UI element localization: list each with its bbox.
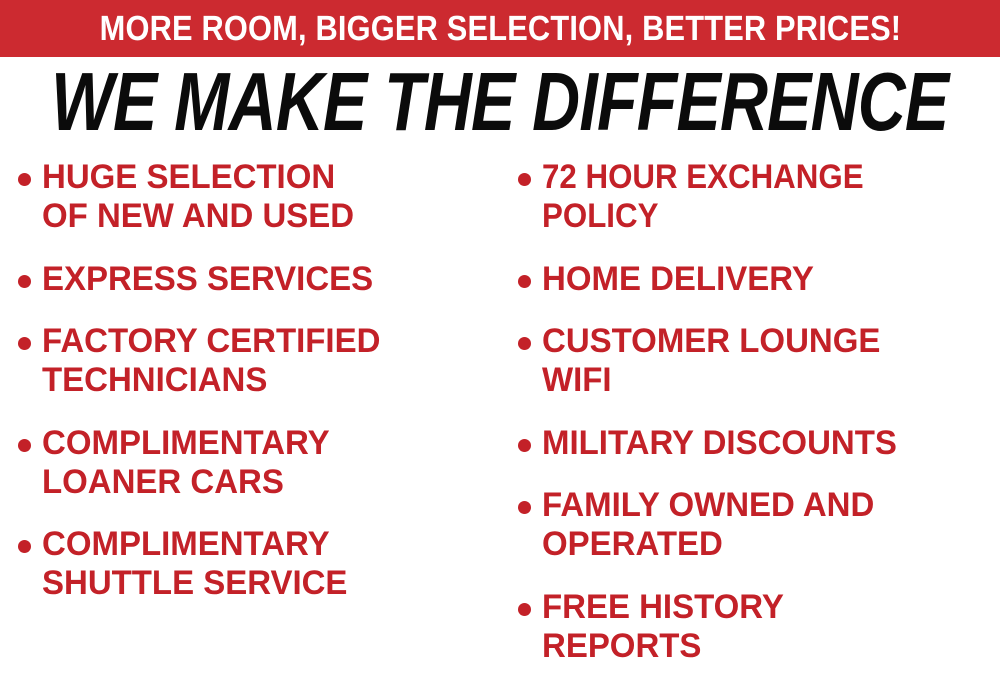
list-item-label: EXPRESS SERVICES: [42, 260, 373, 299]
list-item: FACTORY CERTIFIED TECHNICIANS: [18, 322, 391, 400]
bullet-dot-icon: [18, 337, 31, 350]
list-item: 72 HOUR EXCHANGE POLICY: [518, 158, 892, 236]
bullet-dot-icon: [18, 439, 31, 452]
list-item-label: HOME DELIVERY: [542, 260, 814, 299]
bullet-dot-icon: [518, 173, 531, 186]
promo-poster: MORE ROOM, BIGGER SELECTION, BETTER PRIC…: [0, 0, 1000, 694]
top-banner: MORE ROOM, BIGGER SELECTION, BETTER PRIC…: [0, 0, 1000, 57]
list-item-label: HUGE SELECTION OF NEW AND USED: [42, 158, 354, 236]
list-item: HUGE SELECTION OF NEW AND USED: [18, 158, 364, 236]
bullet-dot-icon: [518, 501, 531, 514]
benefits-columns: HUGE SELECTION OF NEW AND USED EXPRESS S…: [0, 152, 1000, 694]
list-item: CUSTOMER LOUNGE WIFI: [518, 322, 891, 400]
list-item-label: MILITARY DISCOUNTS: [542, 424, 897, 463]
page-title: WE MAKE THE DIFFERENCE: [51, 60, 948, 143]
headline-area: WE MAKE THE DIFFERENCE: [0, 62, 1000, 140]
bullet-dot-icon: [518, 603, 531, 616]
bullet-dot-icon: [18, 540, 31, 553]
bullet-dot-icon: [518, 337, 531, 350]
bullet-dot-icon: [18, 173, 31, 186]
list-item-label: FAMILY OWNED AND OPERATED: [542, 486, 874, 564]
bullet-dot-icon: [518, 439, 531, 452]
benefits-column-left: HUGE SELECTION OF NEW AND USED EXPRESS S…: [18, 152, 508, 694]
list-item-label: COMPLIMENTARY LOANER CARS: [42, 424, 330, 502]
list-item-label: FREE HISTORY REPORTS: [542, 588, 784, 666]
banner-headline: MORE ROOM, BIGGER SELECTION, BETTER PRIC…: [99, 11, 901, 46]
benefits-column-right: 72 HOUR EXCHANGE POLICY HOME DELIVERY CU…: [518, 152, 1000, 694]
list-item: MILITARY DISCOUNTS: [518, 424, 908, 463]
list-item: HOME DELIVERY: [518, 260, 822, 299]
bullet-dot-icon: [518, 275, 531, 288]
bullet-dot-icon: [18, 275, 31, 288]
list-item-label: FACTORY CERTIFIED TECHNICIANS: [42, 322, 380, 400]
list-item-label: CUSTOMER LOUNGE WIFI: [542, 322, 880, 400]
list-item-label: COMPLIMENTARY SHUTTLE SERVICE: [42, 525, 347, 603]
list-item: FREE HISTORY REPORTS: [518, 588, 791, 666]
list-item: COMPLIMENTARY LOANER CARS: [18, 424, 339, 502]
list-item: FAMILY OWNED AND OPERATED: [518, 486, 885, 564]
list-item: COMPLIMENTARY SHUTTLE SERVICE: [18, 525, 357, 603]
list-item-label: 72 HOUR EXCHANGE POLICY: [542, 158, 864, 236]
list-item: EXPRESS SERVICES: [18, 260, 383, 299]
